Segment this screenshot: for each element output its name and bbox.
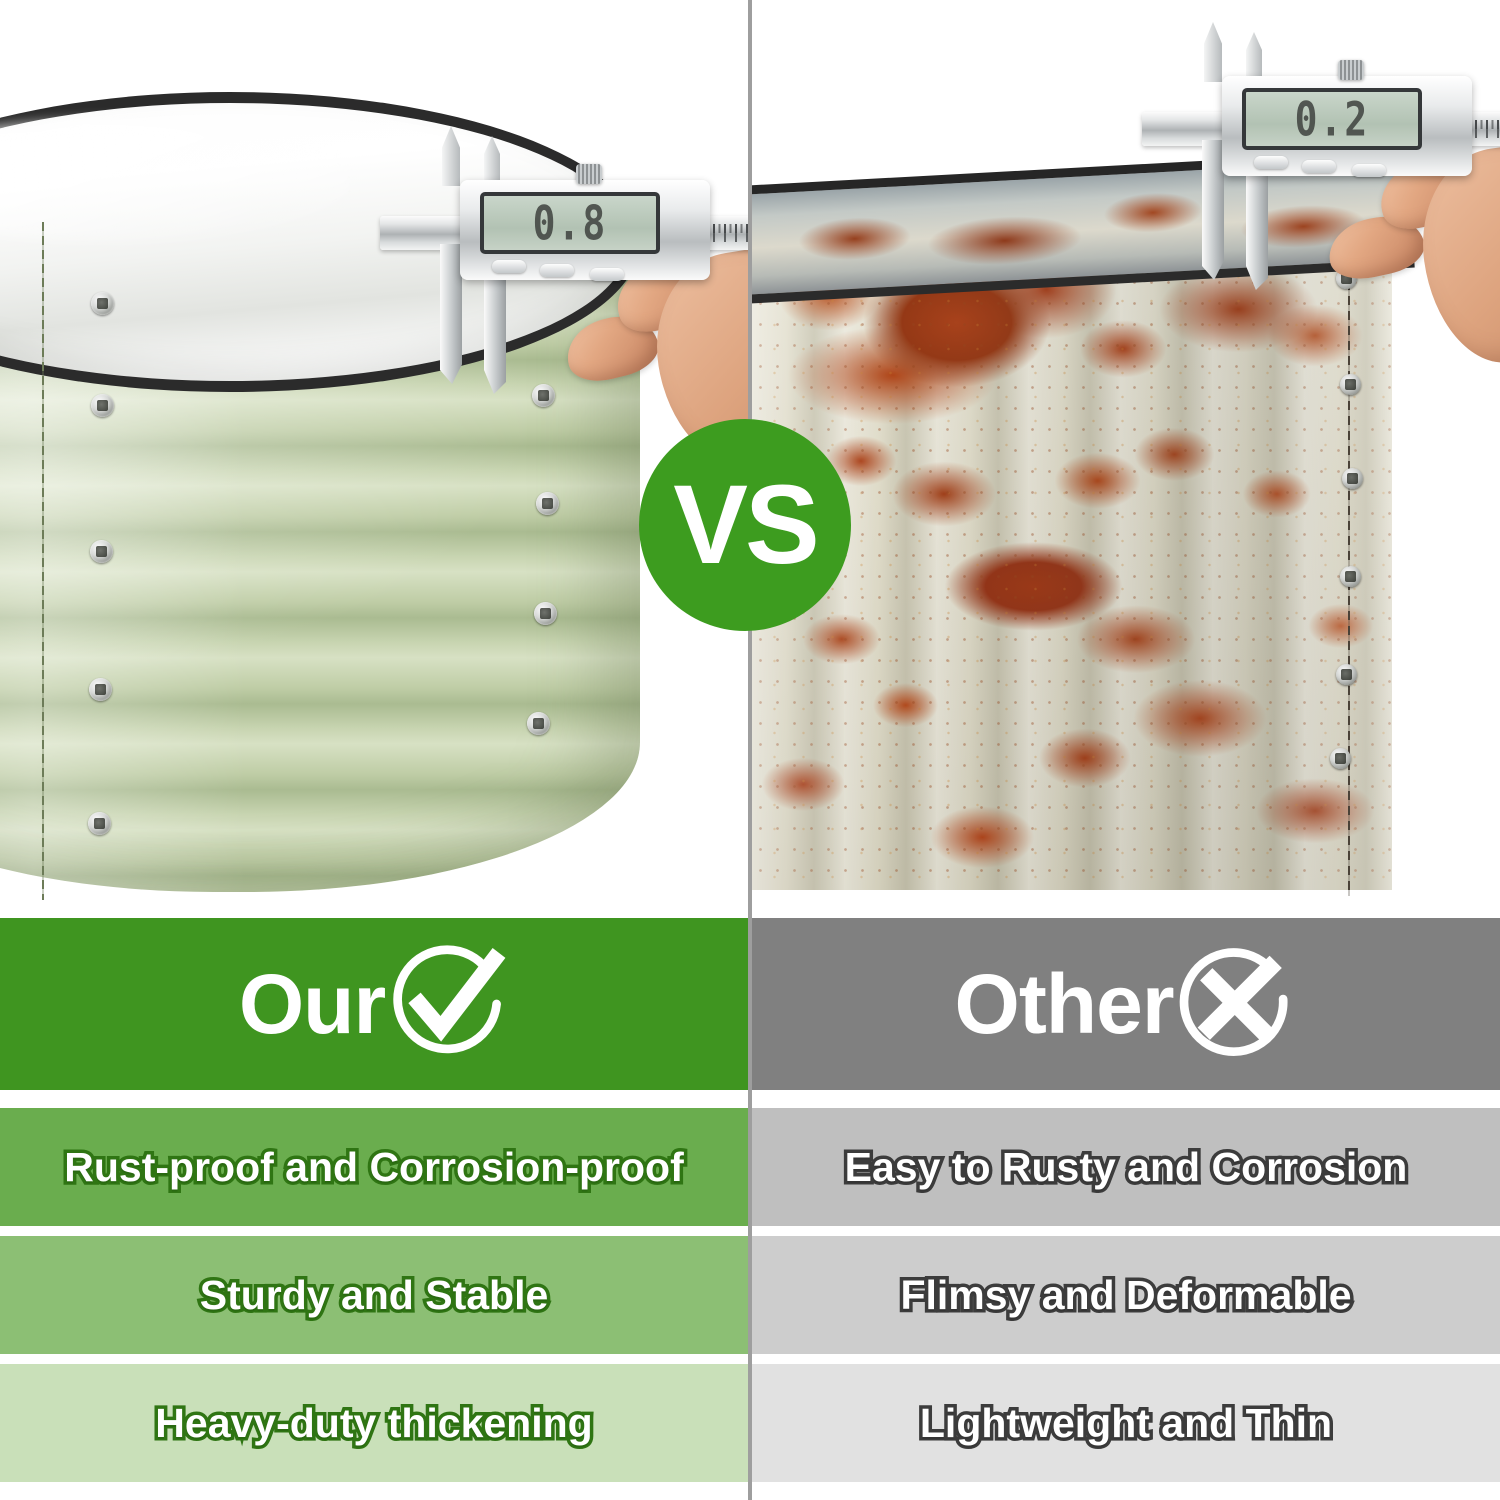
caliper-button[interactable]: [1352, 164, 1386, 177]
caliper-fixed-jaw: [440, 244, 462, 384]
table-row: Lightweight and Thin: [752, 1364, 1500, 1482]
caliper-thumb-roller: [576, 164, 602, 184]
caliper-button[interactable]: [1254, 156, 1288, 169]
caliper-button[interactable]: [492, 260, 526, 273]
screw-icon: [1340, 374, 1361, 395]
photo-comparison-area: 0.8: [0, 0, 1500, 900]
check-circle-icon: [385, 942, 509, 1066]
our-heading-label: Our: [239, 962, 385, 1046]
screw-icon: [88, 812, 111, 835]
our-product-photo: 0.8: [0, 0, 748, 900]
table-row: Heavy-duty thickening: [0, 1364, 748, 1482]
feature-label: Sturdy and Stable: [186, 1275, 563, 1316]
vs-label: VS: [673, 469, 816, 581]
caliper-upper-blade: [1246, 32, 1262, 82]
caliper-button[interactable]: [1302, 160, 1336, 173]
caliper-fixed-jaw: [1202, 140, 1224, 280]
caliper-lcd-display: 0.8: [480, 192, 660, 254]
screw-icon: [1330, 748, 1351, 769]
comparison-table: Our Other: [0, 900, 1500, 1500]
table-row: Easy to Rusty and Corrosion: [752, 1108, 1500, 1226]
caliper-upper-blade: [1204, 22, 1222, 82]
table-row: Flimsy and Deformable: [752, 1236, 1500, 1354]
rust-shading-overlay: [752, 230, 1392, 890]
panel-seam: [42, 222, 44, 900]
screw-icon: [91, 394, 114, 417]
other-column-header: Other: [752, 918, 1500, 1090]
caliper-lcd-display: 0.2: [1242, 88, 1422, 150]
caliper-button[interactable]: [590, 268, 624, 281]
feature-label: Easy to Rusty and Corrosion: [831, 1147, 1422, 1188]
screw-icon: [1340, 566, 1361, 587]
screw-icon: [1336, 664, 1357, 685]
screw-icon: [1342, 468, 1363, 489]
rusty-corrugated-wall: [752, 230, 1392, 890]
screw-icon: [527, 712, 550, 735]
feature-label: Lightweight and Thin: [906, 1403, 1346, 1444]
table-row: Rust-proof and Corrosion-proof: [0, 1108, 748, 1226]
comparison-infographic: 0.8: [0, 0, 1500, 1500]
screw-icon: [536, 492, 559, 515]
table-divider: [748, 900, 752, 1500]
screw-icon: [532, 384, 555, 407]
screw-icon: [534, 602, 557, 625]
other-product-photo: 0.2: [752, 0, 1500, 900]
caliper-thumb-roller: [1338, 60, 1364, 80]
screw-icon: [89, 678, 112, 701]
screw-icon: [91, 292, 114, 315]
feature-label: Rust-proof and Corrosion-proof: [50, 1147, 697, 1188]
feature-label: Flimsy and Deformable: [886, 1275, 1365, 1316]
our-column-header: Our: [0, 918, 748, 1090]
feature-label: Heavy-duty thickening: [141, 1403, 606, 1444]
x-circle-icon: [1174, 942, 1298, 1066]
caliper-reading-value: 0.8: [533, 196, 608, 251]
table-row: Sturdy and Stable: [0, 1236, 748, 1354]
caliper-reading-value: 0.2: [1295, 92, 1370, 147]
other-heading-label: Other: [954, 962, 1173, 1046]
caliper-button[interactable]: [540, 264, 574, 277]
screw-icon: [90, 540, 113, 563]
vs-badge: VS: [639, 419, 851, 631]
